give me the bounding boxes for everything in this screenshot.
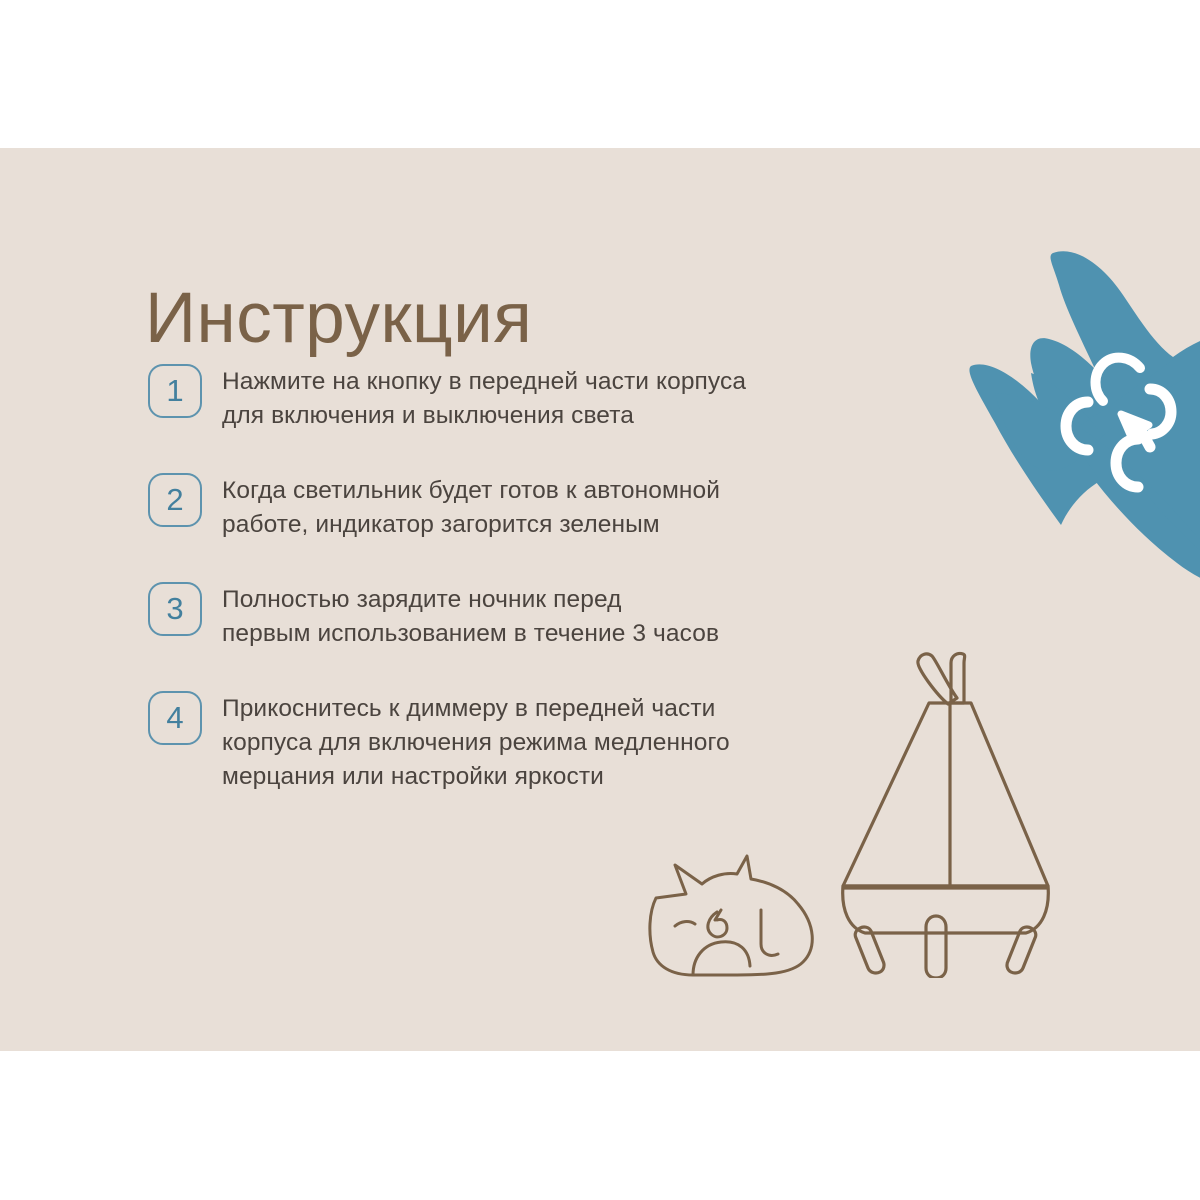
list-item: 4 Прикоснитесь к диммеру в передней част… xyxy=(148,689,848,794)
step-number-badge-1: 1 xyxy=(148,364,202,418)
step-number-badge-4: 4 xyxy=(148,691,202,745)
step-text-line: работе, индикатор загорится зеленым xyxy=(222,508,848,542)
step-text-line: для включения и выключения света xyxy=(222,399,848,433)
step-text-line: Нажмите на кнопку в передней части корпу… xyxy=(222,365,848,399)
step-text-1: Нажмите на кнопку в передней части корпу… xyxy=(222,362,848,433)
step-text-line: Когда светильник будет готов к автономно… xyxy=(222,474,848,508)
step-text-line: корпуса для включения режима медленного xyxy=(222,726,848,760)
sleeping-cat-body xyxy=(650,856,812,975)
lamp-leg-center-icon xyxy=(926,916,946,978)
slide-root: Инструкция 1 Нажмите на кнопку в передне… xyxy=(0,0,1200,1200)
list-item: 2 Когда светильник будет готов к автоном… xyxy=(148,471,848,542)
cat-mouth-icon xyxy=(1141,431,1150,447)
step-number-badge-2: 2 xyxy=(148,473,202,527)
step-text-line: первым использованием в течение 3 часов xyxy=(222,617,848,651)
step-text-line: мерцания или настройки яркости xyxy=(222,760,848,794)
teepee-night-lamp-illustration xyxy=(826,638,1096,983)
step-number-badge-3: 3 xyxy=(148,582,202,636)
page-title: Инструкция xyxy=(145,283,532,354)
instruction-card: Инструкция 1 Нажмите на кнопку в передне… xyxy=(0,148,1200,1051)
list-item: 3 Полностью зарядите ночник перед первым… xyxy=(148,580,848,651)
step-text-3: Полностью зарядите ночник перед первым и… xyxy=(222,580,848,651)
step-text-line: Прикоснитесь к диммеру в передней части xyxy=(222,692,848,726)
sleeping-cat-tail xyxy=(761,910,778,955)
step-text-4: Прикоснитесь к диммеру в передней части … xyxy=(222,689,848,794)
step-text-2: Когда светильник будет готов к автономно… xyxy=(222,471,848,542)
lamp-shade xyxy=(843,703,1048,886)
sleeping-cat-illustration xyxy=(645,848,835,983)
sleeping-cat-eye-icon xyxy=(675,922,695,926)
instruction-steps-list: 1 Нажмите на кнопку в передней части кор… xyxy=(148,362,848,794)
sleeping-cat-paw xyxy=(693,942,750,975)
blue-cat-head-illustration xyxy=(935,223,1200,648)
list-item: 1 Нажмите на кнопку в передней части кор… xyxy=(148,362,848,433)
lamp-ear-right-icon xyxy=(951,653,965,703)
step-text-line: Полностью зарядите ночник перед xyxy=(222,583,848,617)
